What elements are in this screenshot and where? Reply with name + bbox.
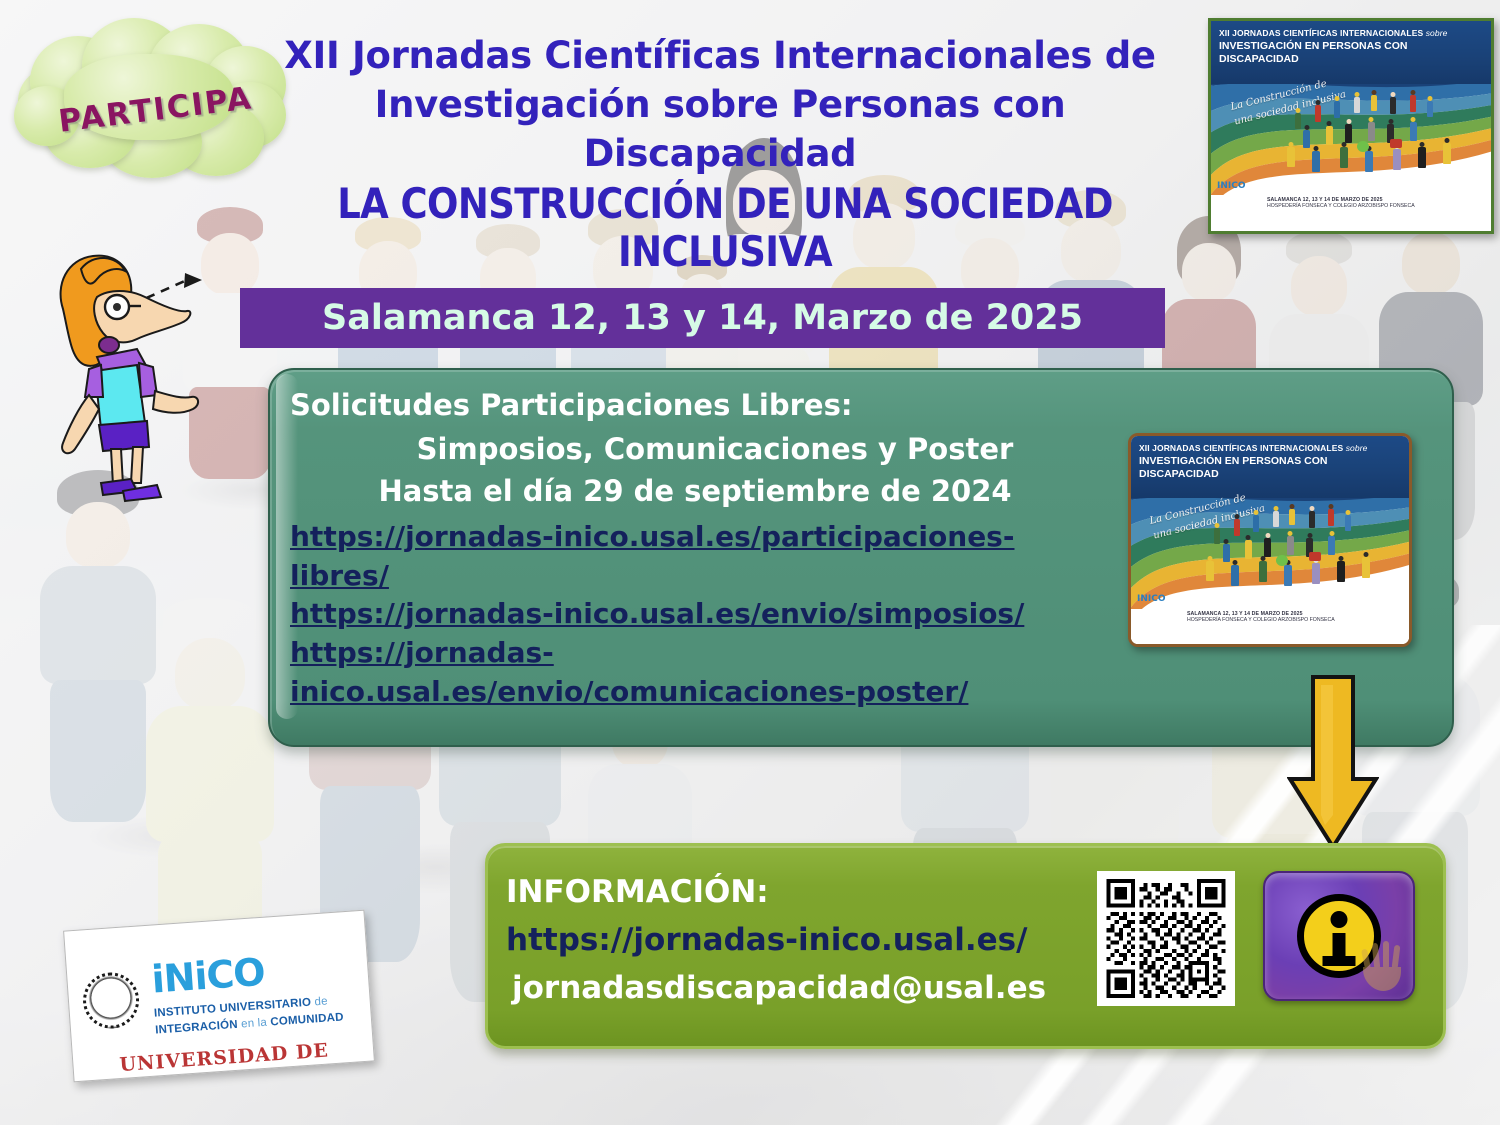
qr-code[interactable] bbox=[1097, 871, 1235, 1006]
information-url[interactable]: https://jornadas-inico.usal.es/ bbox=[506, 916, 1086, 964]
participa-cloud: PARTICIPA bbox=[8, 14, 293, 179]
inico-sub1-light: de bbox=[314, 995, 328, 1008]
thumbnail-footer: SALAMANCA 12, 13 Y 14 DE MARZO DE 2025 H… bbox=[1131, 609, 1409, 644]
page-title: XII Jornadas Científicas Internacionales… bbox=[270, 32, 1170, 178]
page-title-line2: Investigación sobre Personas con Discapa… bbox=[270, 81, 1170, 179]
inico-sub2-light: en la bbox=[241, 1016, 271, 1030]
hand-print-icon bbox=[1359, 939, 1407, 993]
thumbnail-inico-logo: INICO bbox=[1137, 594, 1166, 604]
inico-sub2-bold-a: INTEGRACIÓN bbox=[155, 1019, 242, 1037]
info-dot bbox=[1331, 911, 1348, 928]
thumbnail-inico-logo: INICO bbox=[1217, 181, 1246, 191]
thumbnail-footer: SALAMANCA 12, 13 Y 14 DE MARZO DE 2025 H… bbox=[1211, 195, 1491, 231]
cartoon-woman-pointing bbox=[45, 245, 260, 505]
thumbnail-footer-line2: HOSPEDERÍA FONSECA Y COLEGIO ARZOBISPO F… bbox=[1267, 203, 1487, 209]
inico-logo-card: iNiCO INSTITUTO UNIVERSITARIO de INTEGRA… bbox=[63, 910, 375, 1083]
submissions-heading: Solicitudes Participaciones Libres: bbox=[290, 388, 1100, 422]
submissions-content: Solicitudes Participaciones Libres: Simp… bbox=[290, 388, 1100, 711]
thumbnail-footer-line2: HOSPEDERÍA FONSECA Y COLEGIO ARZOBISPO F… bbox=[1187, 617, 1405, 623]
down-arrow-icon bbox=[1287, 675, 1379, 850]
link-envio-comunicaciones-poster[interactable]: https://jornadas-inico.usal.es/envio/com… bbox=[290, 634, 1100, 711]
information-panel: INFORMACIÓN: https://jornadas-inico.usal… bbox=[485, 843, 1446, 1049]
information-heading: INFORMACIÓN: bbox=[506, 868, 1086, 916]
usal-seal-icon bbox=[81, 971, 141, 1031]
poster-canvas: PARTICIPA bbox=[0, 0, 1500, 1125]
inico-logo-inner: iNiCO INSTITUTO UNIVERSITARIO de INTEGRA… bbox=[80, 933, 366, 1074]
link-participaciones-libres[interactable]: https://jornadas-inico.usal.es/participa… bbox=[290, 518, 1100, 595]
link-envio-simposios[interactable]: https://jornadas-inico.usal.es/envio/sim… bbox=[290, 595, 1100, 634]
info-base bbox=[1323, 956, 1356, 966]
inico-sub2-bold-b: COMUNIDAD bbox=[270, 1011, 344, 1028]
inico-wordmark: iNiCO bbox=[150, 950, 266, 1002]
poster-thumbnail-top[interactable]: La Construcción de una sociedad inclusiv… bbox=[1208, 18, 1494, 234]
information-email[interactable]: jornadasdiscapacidad@usal.es bbox=[506, 964, 1086, 1012]
information-icon[interactable] bbox=[1263, 871, 1415, 1001]
page-title-line1: XII Jornadas Científicas Internacionales… bbox=[270, 32, 1170, 81]
submissions-types: Simposios, Comunicaciones y Poster bbox=[330, 432, 1100, 466]
page-subtitle: LA CONSTRUCCIÓN DE UNA SOCIEDAD INCLUSIV… bbox=[230, 180, 1220, 276]
date-banner: Salamanca 12, 13 y 14, Marzo de 2025 bbox=[240, 288, 1165, 348]
poster-thumbnail-middle[interactable]: La Construcción de una sociedad inclusiv… bbox=[1128, 433, 1412, 647]
date-banner-label: Salamanca 12, 13 y 14, Marzo de 2025 bbox=[322, 298, 1083, 338]
information-text: INFORMACIÓN: https://jornadas-inico.usal… bbox=[506, 868, 1086, 1012]
submissions-deadline: Hasta el día 29 de septiembre de 2024 bbox=[290, 474, 1100, 508]
